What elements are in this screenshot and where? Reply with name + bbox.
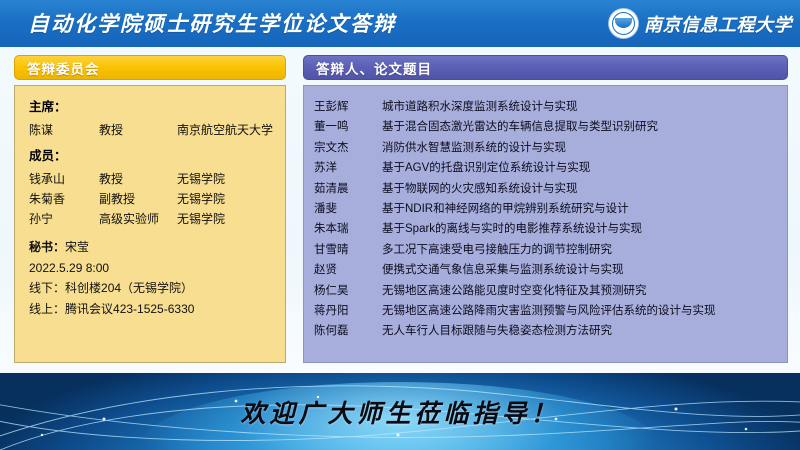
candidate-row: 朱本瑞 基于Spark的离线与实时的电影推荐系统设计与实现: [314, 219, 777, 239]
committee-panel-title: 答辩委员会: [27, 58, 100, 78]
candidate-thesis: 基于混合固态激光雷达的车辆信息提取与类型识别研究: [382, 117, 777, 137]
slide-header-bar: 自动化学院硕士研究生学位论文答辩 南京信息工程大学: [0, 0, 800, 47]
candidate-thesis: 无人车行人目标跟随与失稳姿态检测方法研究: [382, 321, 777, 341]
candidate-name: 杨仁昊: [314, 281, 382, 301]
online-value: 腾讯会议423-1525-6330: [65, 302, 194, 316]
secretary-row: 秘书：宋莹: [29, 237, 271, 258]
offline-label: 线下：: [29, 281, 65, 295]
committee-panel-body: 主席： 陈谋 教授 南京航空航天大学 成员： 钱承山 教授 无锡学院 朱菊香 副…: [14, 85, 286, 363]
candidate-thesis: 多工况下高速受电弓接触压力的调节控制研究: [382, 240, 777, 260]
candidate-name: 甘雪晴: [314, 240, 382, 260]
spacer: [29, 229, 271, 237]
candidate-name: 蒋丹阳: [314, 301, 382, 321]
member-name: 钱承山: [29, 169, 99, 189]
committee-row: 钱承山 教授 无锡学院: [29, 169, 271, 189]
secretary-label: 秘书：: [29, 240, 65, 254]
member-name: 孙宁: [29, 209, 99, 229]
candidate-name: 苏洋: [314, 158, 382, 178]
candidate-thesis: 基于物联网的火灾感知系统设计与实现: [382, 179, 777, 199]
bottom-banner: 欢迎广大师生莅临指导！: [0, 373, 800, 450]
committee-row: 陈谋 教授 南京航空航天大学: [29, 120, 271, 140]
candidate-name: 陈何磊: [314, 321, 382, 341]
member-org: 无锡学院: [177, 209, 271, 229]
candidate-thesis: 城市道路积水深度监测系统设计与实现: [382, 97, 777, 117]
candidate-name: 朱本瑞: [314, 219, 382, 239]
candidate-row: 茹清晨 基于物联网的火灾感知系统设计与实现: [314, 179, 777, 199]
offline-venue-row: 线下：科创楼204（无锡学院）: [29, 278, 271, 299]
candidate-row: 杨仁昊 无锡地区高速公路能见度时空变化特征及其预测研究: [314, 281, 777, 301]
candidates-panel-title: 答辩人、论文题目: [316, 58, 432, 78]
candidate-row: 潘斐 基于NDIR和神经网络的甲烷辨别系统研究与设计: [314, 199, 777, 219]
candidate-name: 宗文杰: [314, 138, 382, 158]
candidate-row: 蒋丹阳 无锡地区高速公路降雨灾害监测预警与风险评估系统的设计与实现: [314, 301, 777, 321]
committee-row: 孙宁 高级实验师 无锡学院: [29, 209, 271, 229]
member-org: 无锡学院: [177, 189, 271, 209]
presentation-slide: 自动化学院硕士研究生学位论文答辩 南京信息工程大学 答辩委员会 主席： 陈谋 教…: [0, 0, 800, 450]
candidate-name: 董一鸣: [314, 117, 382, 137]
candidate-thesis: 无锡地区高速公路能见度时空变化特征及其预测研究: [382, 281, 777, 301]
member-title: 副教授: [99, 189, 177, 209]
chair-label: 主席：: [29, 100, 271, 115]
candidate-thesis: 便携式交通气象信息采集与监测系统设计与实现: [382, 260, 777, 280]
members-label: 成员：: [29, 149, 271, 164]
committee-panel-header: 答辩委员会: [14, 55, 286, 80]
candidate-thesis: 基于NDIR和神经网络的甲烷辨别系统研究与设计: [382, 199, 777, 219]
candidate-row: 董一鸣 基于混合固态激光雷达的车辆信息提取与类型识别研究: [314, 117, 777, 137]
defense-datetime: 2022.5.29 8:00: [29, 258, 271, 279]
candidate-name: 茹清晨: [314, 179, 382, 199]
candidate-thesis: 基于Spark的离线与实时的电影推荐系统设计与实现: [382, 219, 777, 239]
page-title: 自动化学院硕士研究生学位论文答辩: [28, 8, 396, 38]
candidate-row: 赵贤 便携式交通气象信息采集与监测系统设计与实现: [314, 260, 777, 280]
university-emblem-icon: [609, 9, 638, 38]
candidates-panel-body: 王彭辉 城市道路积水深度监测系统设计与实现 董一鸣 基于混合固态激光雷达的车辆信…: [303, 85, 788, 363]
candidate-thesis: 消防供水智慧监测系统的设计与实现: [382, 138, 777, 158]
member-org: 无锡学院: [177, 169, 271, 189]
member-title: 高级实验师: [99, 209, 177, 229]
university-logo: 南京信息工程大学: [609, 7, 792, 40]
member-title: 教授: [99, 120, 177, 140]
candidate-row: 宗文杰 消防供水智慧监测系统的设计与实现: [314, 138, 777, 158]
candidate-name: 潘斐: [314, 199, 382, 219]
member-title: 教授: [99, 169, 177, 189]
online-label: 线上：: [29, 302, 65, 316]
candidate-name: 王彭辉: [314, 97, 382, 117]
committee-panel: 答辩委员会 主席： 陈谋 教授 南京航空航天大学 成员： 钱承山 教授 无锡学院…: [14, 55, 286, 363]
member-name: 朱菊香: [29, 189, 99, 209]
member-name: 陈谋: [29, 120, 99, 140]
candidate-row: 王彭辉 城市道路积水深度监测系统设计与实现: [314, 97, 777, 117]
candidate-name: 赵贤: [314, 260, 382, 280]
candidates-panel: 答辩人、论文题目 王彭辉 城市道路积水深度监测系统设计与实现 董一鸣 基于混合固…: [303, 55, 788, 363]
candidate-row: 苏洋 基于AGV的托盘识别定位系统设计与实现: [314, 158, 777, 178]
welcome-slogan: 欢迎广大师生莅临指导！: [0, 373, 800, 450]
secretary-name: 宋莹: [65, 240, 89, 254]
candidates-panel-header: 答辩人、论文题目: [303, 55, 788, 80]
online-venue-row: 线上：腾讯会议423-1525-6330: [29, 299, 271, 320]
offline-value: 科创楼204（无锡学院）: [65, 281, 193, 295]
candidate-thesis: 基于AGV的托盘识别定位系统设计与实现: [382, 158, 777, 178]
committee-row: 朱菊香 副教授 无锡学院: [29, 189, 271, 209]
candidate-row: 陈何磊 无人车行人目标跟随与失稳姿态检测方法研究: [314, 321, 777, 341]
candidate-row: 甘雪晴 多工况下高速受电弓接触压力的调节控制研究: [314, 240, 777, 260]
candidate-thesis: 无锡地区高速公路降雨灾害监测预警与风险评估系统的设计与实现: [382, 301, 777, 321]
university-name-label: 南京信息工程大学: [644, 11, 792, 37]
member-org: 南京航空航天大学: [177, 120, 273, 140]
